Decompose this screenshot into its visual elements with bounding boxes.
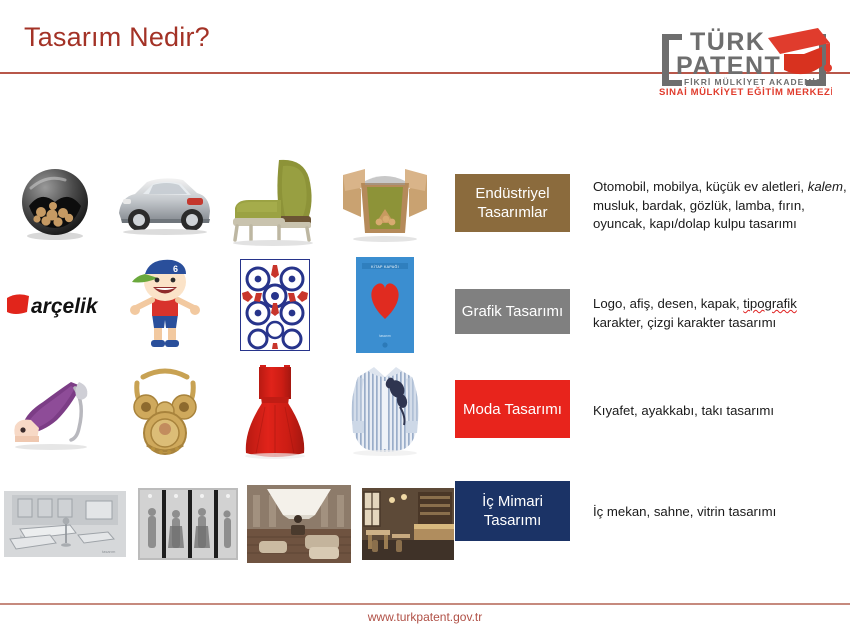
category-description-fashion: Kıyafet, ayakkabı, takı tasarımı <box>593 402 848 421</box>
restaurant-interior-image <box>358 472 458 575</box>
footer-divider <box>0 603 850 605</box>
category-description-industrial: Otomobil, mobilya, küçük ev aletleri, ka… <box>593 178 848 234</box>
grid-row-graphic: arçelik <box>0 253 440 356</box>
svg-text:tasarım: tasarım <box>102 549 116 554</box>
svg-text:tasarım: tasarım <box>379 334 390 338</box>
footer-url[interactable]: www.turkpatent.gov.tr <box>0 610 850 624</box>
arcelik-wordmark: arçelik <box>31 295 99 318</box>
necklace-image <box>110 359 220 462</box>
tile-pattern-image <box>220 253 330 356</box>
nut-bowl-image <box>0 150 110 253</box>
category-description-interior: İç mekan, sahne, vitrin tasarımı <box>593 503 848 522</box>
grid-row-interior: tasarım <box>0 472 440 575</box>
logo-line-3: FİKRİ MÜLKİYET AKADEMİSİ <box>684 77 826 87</box>
interior-sketch-image: tasarım <box>0 472 130 575</box>
striped-shirt-image <box>330 359 440 462</box>
category-label-industrial[interactable]: Endüstriyel Tasarımlar <box>455 174 570 232</box>
logo-line-4: SINAİ MÜLKİYET EĞİTİM MERKEZİ <box>659 86 832 96</box>
logo-line-2: PATENT <box>676 52 781 80</box>
book-cover-image: KİTAP KAPAĞI tasarım <box>330 253 440 356</box>
svg-text:KİTAP KAPAĞI: KİTAP KAPAĞI <box>371 264 399 269</box>
svg-text:6: 6 <box>173 264 178 274</box>
category-label-graphic[interactable]: Grafik Tasarımı <box>455 289 570 334</box>
lounge-interior-image <box>243 472 355 575</box>
page-title: Tasarım Nedir? <box>24 22 210 53</box>
armchair-image <box>220 150 330 253</box>
shop-window-image <box>135 472 240 575</box>
grid-row-industrial <box>0 150 440 253</box>
high-heel-shoe-image <box>0 359 110 462</box>
category-description-graphic: Logo, afiş, desen, kapak, tipografik kar… <box>593 295 848 332</box>
package-image <box>330 150 440 253</box>
red-dress-image <box>220 359 330 462</box>
car-image <box>110 150 220 253</box>
grid-row-fashion <box>0 359 440 462</box>
category-label-fashion[interactable]: Moda Tasarımı <box>455 380 570 438</box>
cartoon-character-image: 6 <box>110 253 220 356</box>
category-label-interior[interactable]: İç Mimari Tasarımı <box>455 481 570 541</box>
design-image-grid: arçelik <box>0 150 440 565</box>
turk-patent-logo: TÜRK PATENT FİKRİ MÜLKİYET AKADEMİSİ SIN… <box>656 16 832 96</box>
arcelik-logo-image: arçelik <box>0 253 110 356</box>
